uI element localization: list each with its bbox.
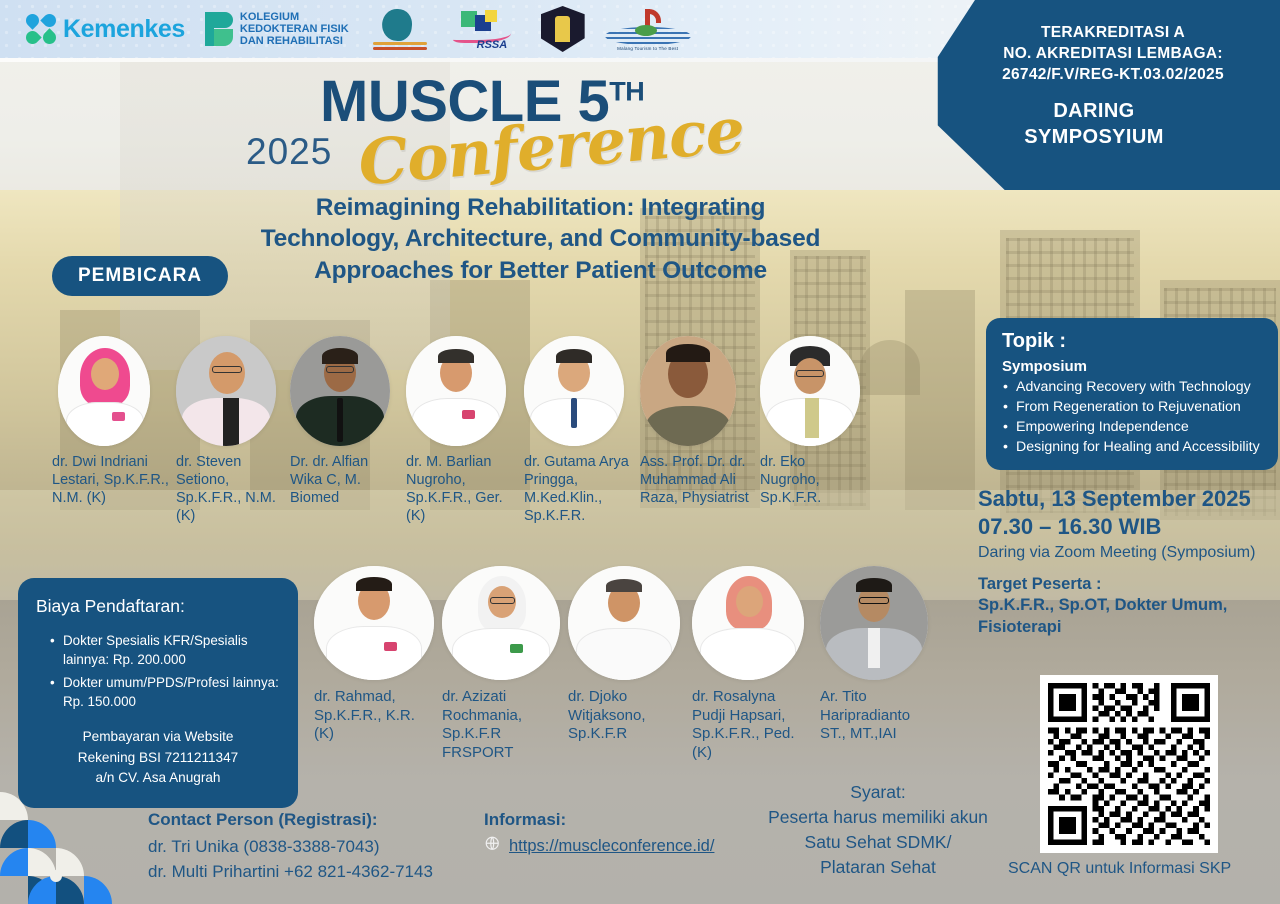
website-link[interactable]: https://muscleconference.id/ — [509, 837, 714, 856]
conference-poster: Kemenkes KOLEGIUM KEDOKTERAN FISIK DAN R… — [0, 0, 1280, 904]
accreditation-line2: NO. AKREDITASI LEMBAGA: — [966, 43, 1260, 64]
fees-heading: Biaya Pendaftaran: — [36, 596, 280, 617]
fee-item: Dokter Spesialis KFR/Spesialis lainnya: … — [50, 631, 280, 669]
target-value: Sp.K.F.R., Sp.OT, Dokter Umum, Fisiotera… — [978, 595, 1278, 638]
target-label: Target Peserta : — [978, 574, 1278, 595]
qr-caption: SCAN QR untuk Informasi SKP — [1008, 860, 1231, 878]
avatar — [640, 336, 736, 446]
accreditation-line3: 26742/F.V/REG-KT.03.02/2025 — [966, 64, 1260, 85]
athlete-icon — [369, 7, 431, 51]
kolegium-logo: KOLEGIUM KEDOKTERAN FISIK DAN REHABILITA… — [205, 11, 349, 48]
contact-person-1: dr. Tri Unika (0838-3388-7043) — [148, 835, 433, 860]
shield-icon — [541, 6, 585, 52]
event-time: 07.30 – 16.30 WIB — [978, 513, 1278, 541]
speaker-card: dr. Rosalyna Pudji Hapsari, Sp.K.F.R., P… — [692, 566, 808, 762]
speaker-name: Dr. dr. Alfian Wika C, M. Biomed — [290, 454, 398, 508]
event-type-line2: SYMPOSYIUM — [908, 124, 1280, 150]
requirements-heading: Syarat: — [728, 780, 1028, 805]
avatar — [58, 336, 150, 446]
fees-panel: Biaya Pendaftaran: Dokter Spesialis KFR/… — [18, 578, 298, 808]
event-type-panel: DARING SYMPOSYIUM — [908, 98, 1280, 150]
speakers-badge: PEMBICARA — [52, 256, 228, 296]
speaker-card: dr. Dwi Indriani Lestari, Sp.K.F.R., N.M… — [52, 336, 170, 508]
title-year: 2025 — [246, 131, 332, 173]
avatar — [692, 566, 804, 680]
tourism-mark-icon: Malang Tourism to The Best — [605, 7, 691, 51]
qr-code-container — [1040, 675, 1218, 853]
speaker-name: dr. Eko Nugroho, Sp.K.F.R. — [760, 454, 868, 508]
avatar — [820, 566, 928, 680]
avatar — [314, 566, 434, 680]
avatar — [290, 336, 390, 446]
speaker-name: dr. Steven Setiono, Sp.K.F.R., N.M. (K) — [176, 454, 286, 526]
speaker-name: dr. Djoko Witjaksono, Sp.K.F.R — [568, 688, 680, 744]
topic-item: From Regeneration to Rejuvenation — [1002, 397, 1270, 417]
kolegium-line3: DAN REHABILITASI — [240, 35, 349, 47]
rssa-label: RSSA — [477, 39, 508, 51]
speaker-card: Dr. dr. Alfian Wika C, M. Biomed — [290, 336, 398, 508]
speaker-name: dr. M. Barlian Nugroho, Sp.K.F.R., Ger. … — [406, 454, 514, 526]
kolegium-label: KOLEGIUM KEDOKTERAN FISIK DAN REHABILITA… — [240, 11, 349, 48]
partner-logo-bar: Kemenkes KOLEGIUM KEDOKTERAN FISIK DAN R… — [0, 0, 1000, 58]
information-panel: Informasi: https://muscleconference.id/ — [484, 810, 714, 858]
payment-line3: a/n CV. Asa Anugrah — [36, 768, 280, 788]
speaker-card: dr. Azizati Rochmania, Sp.K.F.R FRSPORT — [442, 566, 560, 762]
schedule-panel: Sabtu, 13 September 2025 07.30 – 16.30 W… — [978, 485, 1278, 638]
event-type-line1: DARING — [908, 98, 1280, 124]
event-date: Sabtu, 13 September 2025 — [978, 485, 1278, 513]
avatar — [176, 336, 276, 446]
contact-person-2: dr. Multi Prihartini +62 821-4362-7143 — [148, 860, 433, 885]
logo-bar-divider — [0, 58, 1000, 62]
topics-heading: Topik : — [1002, 330, 1270, 353]
rssa-mark-icon: RSSA — [451, 7, 521, 51]
avatar — [406, 336, 506, 446]
qr-code-image — [1040, 675, 1218, 853]
contact-panel: Contact Person (Registrasi): dr. Tri Uni… — [148, 810, 433, 884]
speaker-card: Ar. Tito Haripradianto ST., MT.,IAI — [820, 566, 932, 744]
universitas-brawijaya-logo — [541, 6, 585, 52]
topic-item: Advancing Recovery with Technology — [1002, 377, 1270, 397]
requirements-line3: Plataran Sehat — [728, 855, 1028, 880]
speaker-name: dr. Rahmad, Sp.K.F.R., K.R. (K) — [314, 688, 432, 744]
kolegium-line1: KOLEGIUM — [240, 11, 349, 23]
speaker-name: dr. Dwi Indriani Lestari, Sp.K.F.R., N.M… — [52, 454, 170, 508]
requirements-line1: Peserta harus memiliki akun — [728, 805, 1028, 830]
speaker-card: dr. M. Barlian Nugroho, Sp.K.F.R., Ger. … — [406, 336, 514, 526]
kolegium-mark-icon — [205, 12, 233, 46]
speaker-name: dr. Gutama Arya Pringga, M.Ked.Klin., Sp… — [524, 454, 632, 526]
speaker-name: Ass. Prof. Dr. dr. Muhammad Ali Raza, Ph… — [640, 454, 758, 508]
speaker-name: Ar. Tito Haripradianto ST., MT.,IAI — [820, 688, 932, 744]
malang-tourism-label: Malang Tourism to The Best — [605, 46, 691, 51]
avatar — [568, 566, 680, 680]
avatar — [760, 336, 860, 446]
fees-list: Dokter Spesialis KFR/Spesialis lainnya: … — [50, 631, 280, 711]
fee-item: Dokter umum/PPDS/Profesi lainnya: Rp. 15… — [50, 673, 280, 711]
contact-heading: Contact Person (Registrasi): — [148, 810, 433, 830]
information-heading: Informasi: — [484, 810, 714, 830]
requirements-line2: Satu Sehat SDMK/ — [728, 830, 1028, 855]
requirements-panel: Syarat: Peserta harus memiliki akun Satu… — [728, 780, 1028, 880]
topic-item: Designing for Healing and Accessibility — [1002, 437, 1270, 457]
kolegium-line2: KEDOKTERAN FISIK — [240, 23, 349, 35]
speaker-name: dr. Rosalyna Pudji Hapsari, Sp.K.F.R., P… — [692, 688, 808, 762]
page-subtitle: Reimagining Rehabilitation: Integrating … — [248, 192, 833, 286]
payment-line1: Pembayaran via Website — [36, 727, 280, 747]
payment-info: Pembayaran via Website Rekening BSI 7211… — [36, 727, 280, 788]
kemenkes-mark-icon — [26, 14, 56, 44]
globe-icon — [484, 835, 502, 858]
topics-panel: Topik : Symposium Advancing Recovery wit… — [986, 318, 1278, 470]
avatar — [524, 336, 624, 446]
avatar — [442, 566, 560, 680]
speaker-card: dr. Rahmad, Sp.K.F.R., K.R. (K) — [314, 566, 432, 744]
malang-tourism-logo: Malang Tourism to The Best — [605, 7, 691, 51]
topics-subheading: Symposium — [1002, 358, 1270, 375]
accreditation-line1: TERAKREDITASI A — [966, 22, 1260, 43]
kemenkes-label: Kemenkes — [63, 15, 185, 44]
payment-line2: Rekening BSI 7211211347 — [36, 748, 280, 768]
speaker-card: dr. Steven Setiono, Sp.K.F.R., N.M. (K) — [176, 336, 286, 526]
speaker-card: Ass. Prof. Dr. dr. Muhammad Ali Raza, Ph… — [640, 336, 758, 508]
qr-code-svg — [1048, 683, 1210, 845]
speaker-name: dr. Azizati Rochmania, Sp.K.F.R FRSPORT — [442, 688, 560, 762]
topics-list: Advancing Recovery with Technology From … — [1002, 377, 1270, 458]
speaker-card: dr. Djoko Witjaksono, Sp.K.F.R — [568, 566, 680, 744]
topic-item: Empowering Independence — [1002, 417, 1270, 437]
event-platform: Daring via Zoom Meeting (Symposium) — [978, 544, 1278, 562]
speaker-card: dr. Eko Nugroho, Sp.K.F.R. — [760, 336, 868, 508]
rssa-logo: RSSA — [451, 7, 521, 51]
decorative-pattern — [0, 792, 132, 904]
speaker-card: dr. Gutama Arya Pringga, M.Ked.Klin., Sp… — [524, 336, 632, 526]
porseni-logo — [369, 7, 431, 51]
kemenkes-logo: Kemenkes — [26, 14, 185, 44]
